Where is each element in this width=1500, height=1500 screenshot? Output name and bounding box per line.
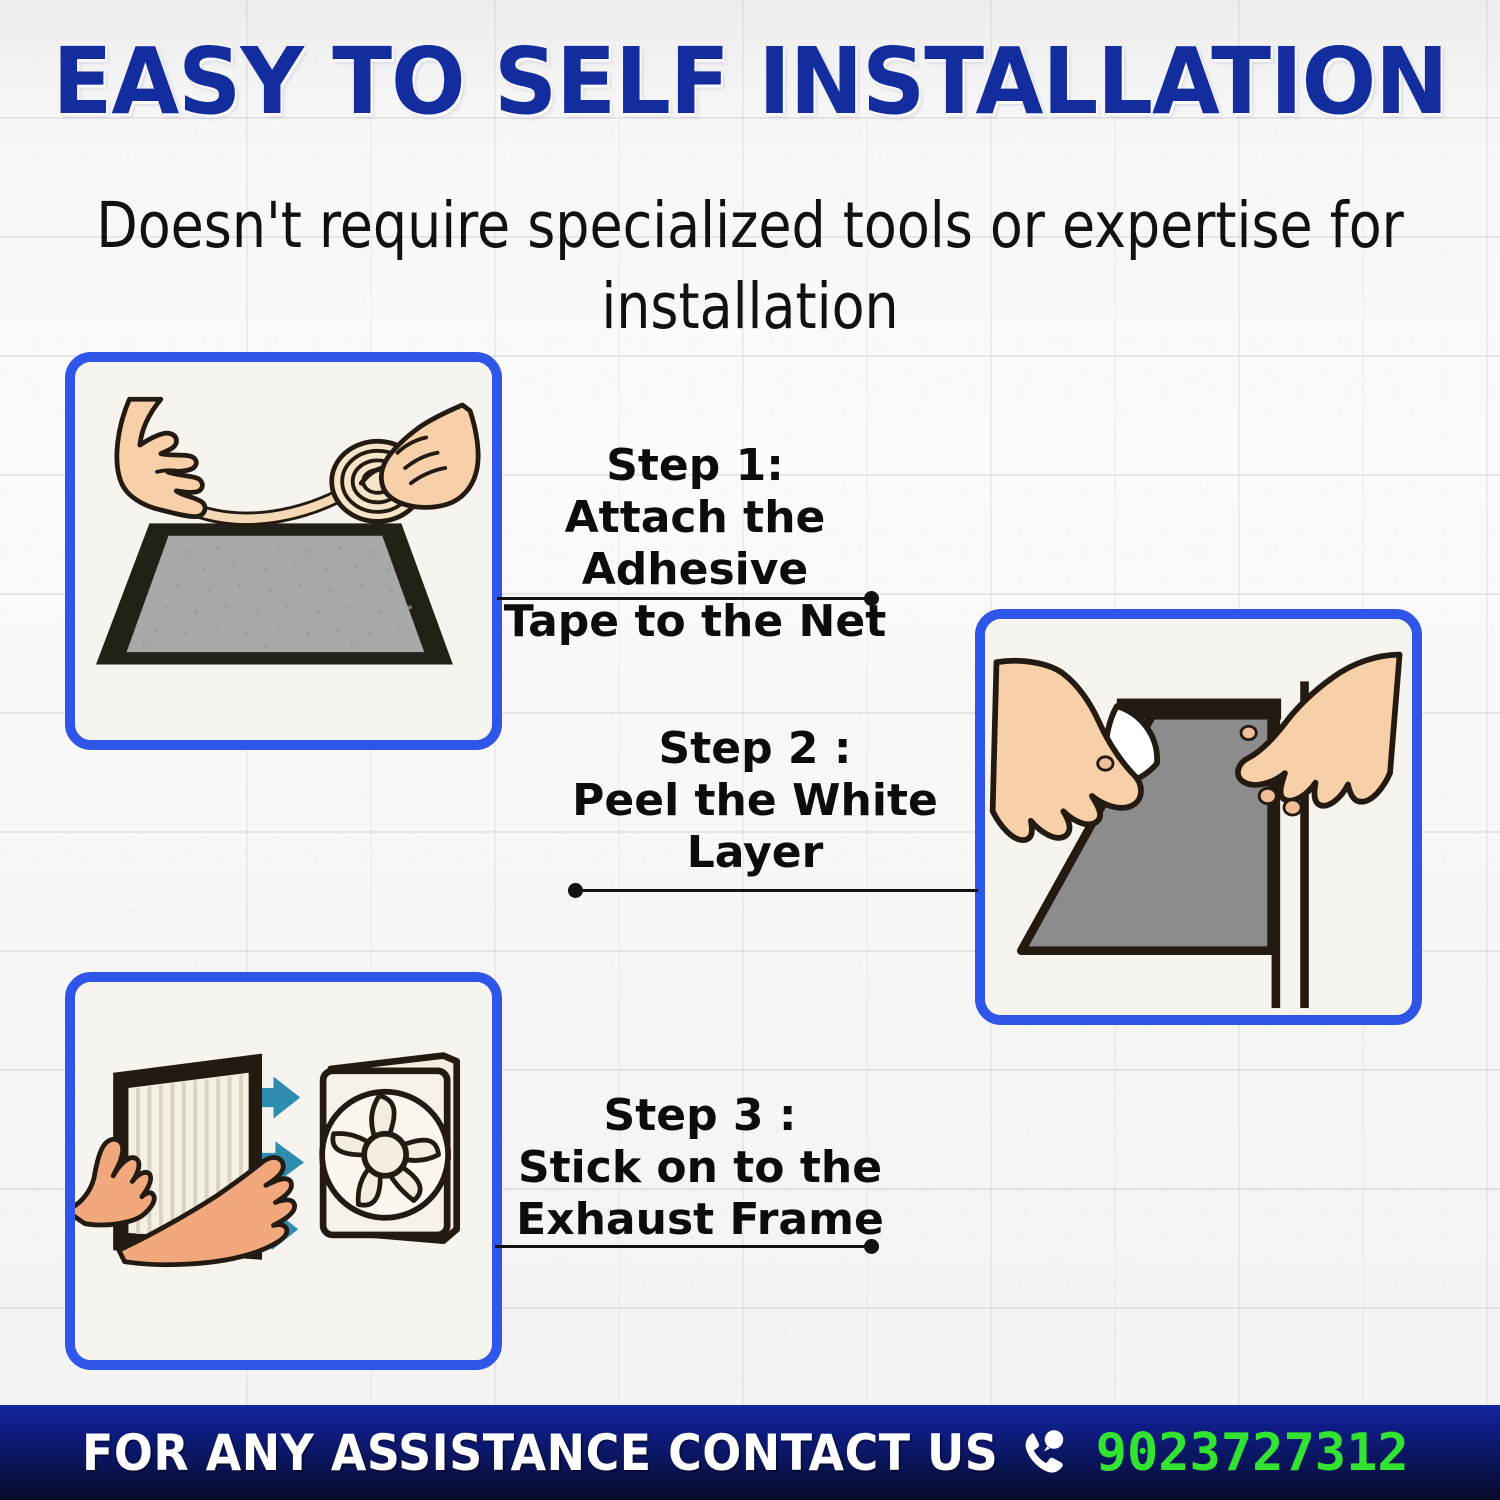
page-subtitle: Doesn't require specialized tools or exp… [38, 186, 1463, 347]
step-1-illustration-panel [65, 352, 502, 750]
step-2-label: Step 2 : Peel the White Layer [555, 723, 955, 879]
step-2-connector-line [568, 880, 978, 900]
step-3-illustration-panel [65, 972, 502, 1370]
connector-line-segment [495, 1245, 879, 1248]
infographic-page: EASY TO SELF INSTALLATION Doesn't requir… [0, 0, 1500, 1500]
connector-line-segment [568, 889, 978, 892]
peel-layer-illustration [985, 619, 1412, 1015]
connector-end-dot [568, 883, 583, 898]
connector-end-dot [864, 591, 879, 606]
step-3-label: Step 3 : Stick on to the Exhaust Frame [500, 1090, 900, 1246]
step-2-illustration-panel [975, 609, 1422, 1025]
connector-line-segment [497, 597, 879, 600]
connector-end-dot [864, 1239, 879, 1254]
page-title: EASY TO SELF INSTALLATION [0, 36, 1500, 128]
step-3-connector-line [495, 1236, 879, 1256]
step-1-label: Step 1: Attach the Adhesive Tape to the … [500, 440, 890, 648]
assistance-text: FOR ANY ASSISTANCE CONTACT US [82, 1424, 998, 1482]
stick-on-exhaust-illustration [75, 982, 492, 1360]
step-1-connector-line [497, 588, 879, 608]
contact-bar: FOR ANY ASSISTANCE CONTACT US 9023727312 [0, 1405, 1500, 1500]
phone-call-icon [1016, 1426, 1070, 1480]
contact-phone-number[interactable]: 9023727312 [1096, 1423, 1409, 1483]
adhesive-tape-illustration [75, 362, 492, 740]
